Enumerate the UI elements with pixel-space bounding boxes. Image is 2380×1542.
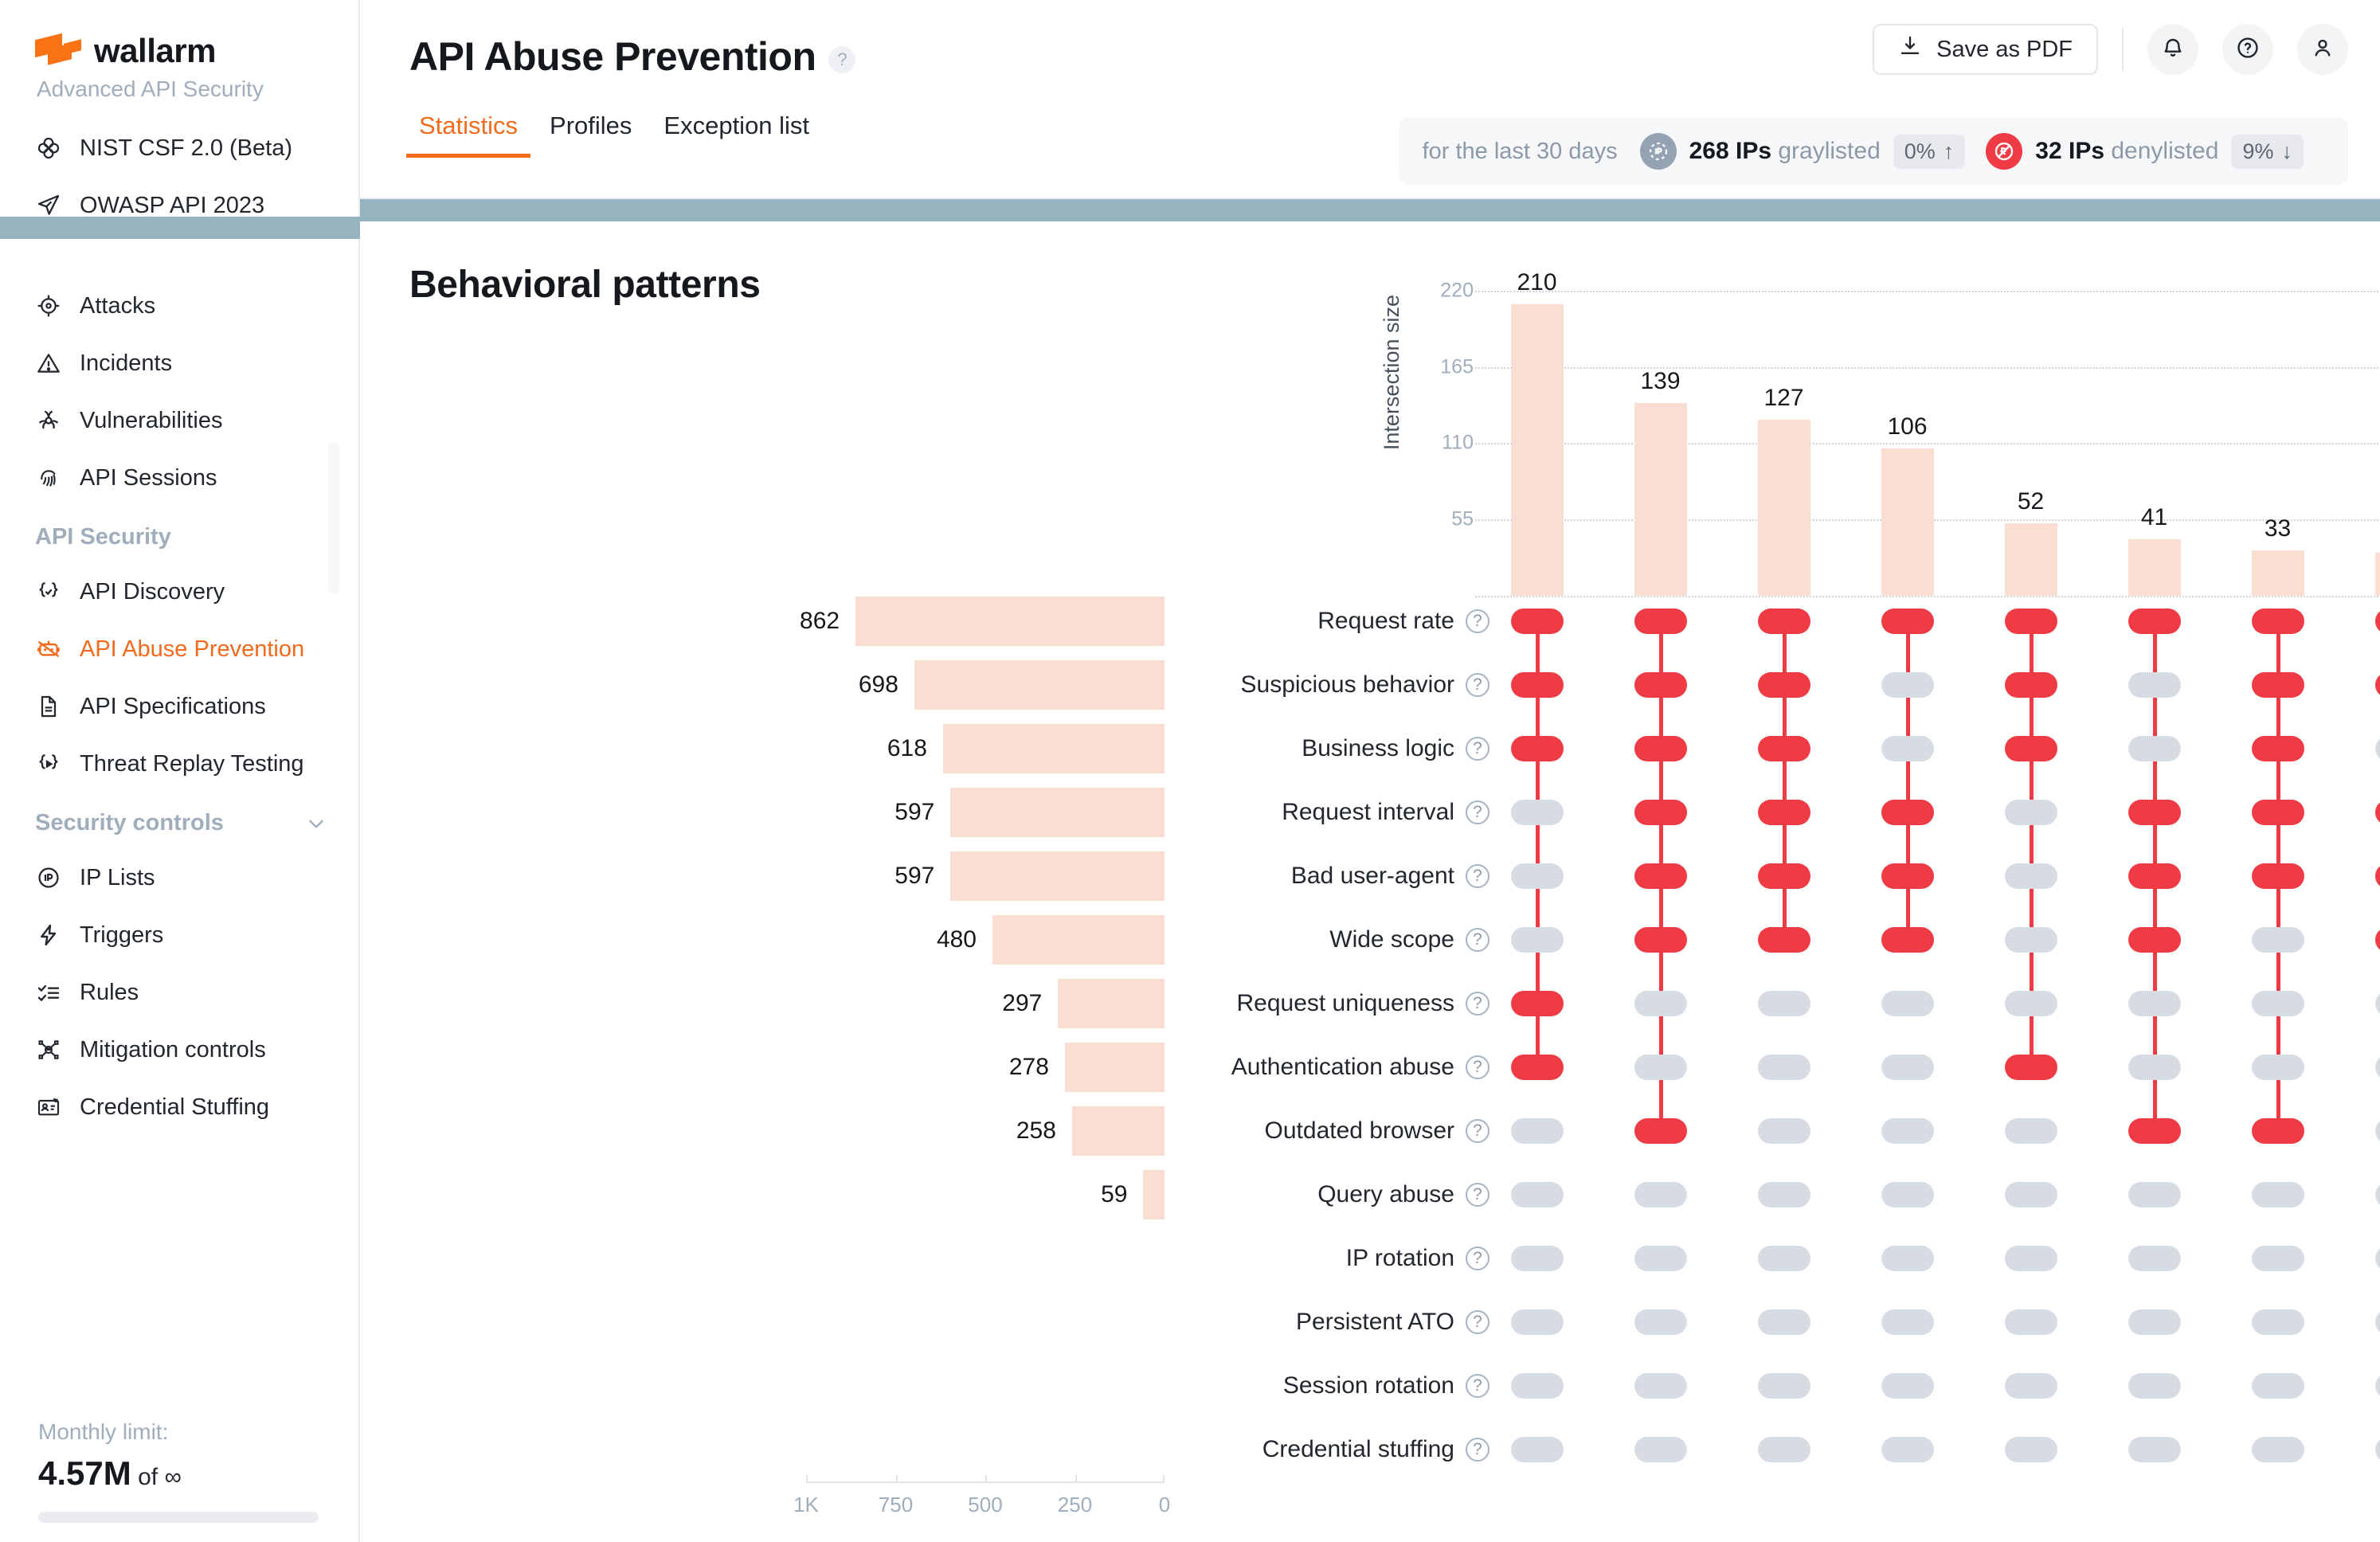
warning-triangle-icon <box>35 350 62 377</box>
sidebar-item-threat-replay-testing[interactable]: Threat Replay Testing <box>0 735 358 793</box>
matrix-dot-active[interactable] <box>2375 672 2380 698</box>
monthly-limit-used: 4.57M <box>38 1454 131 1492</box>
set-size-row[interactable]: 480 <box>937 915 1165 965</box>
denied-badge-icon <box>1986 133 2022 170</box>
sidebar-item-label: Attacks <box>80 293 155 319</box>
set-size-bar[interactable] <box>1058 979 1165 1028</box>
set-size-value: 862 <box>800 608 840 635</box>
matrix-dot-inactive[interactable] <box>2128 1246 2181 1271</box>
category-label: Suspicious behavior <box>1241 671 1455 699</box>
category-label: Bad user-agent <box>1291 863 1454 890</box>
denylisted-text: 32 IPs denylisted <box>2035 138 2218 165</box>
matrix-dot-inactive[interactable] <box>2252 1373 2304 1399</box>
sidebar-item-label: API Specifications <box>80 694 266 720</box>
matrix-dot-inactive[interactable] <box>1511 927 1564 953</box>
matrix-column[interactable] <box>1758 589 1810 1481</box>
set-size-value: 258 <box>1016 1117 1056 1145</box>
y-axis-tick: 220 <box>1440 279 1474 302</box>
sidebar-item-label: Vulnerabilities <box>80 408 222 434</box>
matrix-dot-active[interactable] <box>2005 736 2057 761</box>
sidebar-item-label: Rules <box>80 980 139 1006</box>
intersection-bar[interactable] <box>1881 448 1934 596</box>
matrix-dot-active[interactable] <box>1758 736 1810 761</box>
matrix-dot-active[interactable] <box>2375 863 2380 889</box>
matrix-connector-line <box>1783 621 1787 940</box>
category-labels: Request rate?Suspicious behavior?Busines… <box>1172 589 1491 1481</box>
sidebar-item-label: API Abuse Prevention <box>80 636 304 663</box>
category-label: Request uniqueness <box>1236 990 1454 1017</box>
set-size-row[interactable]: 618 <box>887 724 1165 773</box>
matrix-dot-active[interactable] <box>1881 800 1934 825</box>
axis-tick-label: 1K <box>793 1493 819 1517</box>
category-label-row[interactable]: IP rotation? <box>1172 1227 1491 1290</box>
intersection-bar-value: 210 <box>1517 269 1556 296</box>
help-button[interactable] <box>2222 24 2273 75</box>
set-size-value: 597 <box>894 863 934 890</box>
ip-stats-bar: for the last 30 days 268 IPs graylisted … <box>1399 118 2348 185</box>
set-size-value: 698 <box>859 671 898 699</box>
matrix-dot-active[interactable] <box>2252 736 2304 761</box>
denylisted-stat[interactable]: 32 IPs denylisted 9% ↓ <box>1986 133 2304 170</box>
intersection-size-axis-label: Intersection size <box>1380 139 1404 295</box>
matrix-dot-active[interactable] <box>1634 863 1687 889</box>
set-size-value: 597 <box>894 799 934 826</box>
matrix-dot-active[interactable] <box>2128 927 2181 953</box>
category-label: Query abuse <box>1317 1181 1454 1208</box>
category-label-row[interactable]: Session rotation? <box>1172 1354 1491 1418</box>
matrix-dot-inactive[interactable] <box>2375 1437 2380 1462</box>
main-content: API Abuse Prevention ? Statistics Profil… <box>360 0 2380 1542</box>
intersection-bar[interactable] <box>2128 539 2181 596</box>
set-size-row[interactable]: 59 <box>1101 1170 1165 1219</box>
monthly-limit-progress <box>38 1512 319 1523</box>
matrix-dot-inactive[interactable] <box>2375 736 2380 761</box>
axis-tick <box>1163 1475 1165 1483</box>
category-label: Persistent ATO <box>1296 1309 1454 1336</box>
sidebar-item-ip-lists[interactable]: IP Lists <box>0 849 358 906</box>
matrix-dot-active[interactable] <box>1634 672 1687 698</box>
notifications-button[interactable] <box>2147 24 2198 75</box>
category-label-row[interactable]: Request uniqueness? <box>1172 972 1491 1035</box>
matrix-dot-inactive[interactable] <box>2005 1309 2057 1335</box>
set-size-bar[interactable] <box>914 660 1165 710</box>
sidebar-item-label: Triggers <box>80 922 163 949</box>
tab-profiles[interactable]: Profiles <box>534 112 648 158</box>
set-size-bar[interactable] <box>1065 1043 1165 1092</box>
sidebar-group-api-security: API Security <box>0 507 358 563</box>
matrix-dot-inactive[interactable] <box>2375 991 2380 1016</box>
matrix-dot-inactive[interactable] <box>1511 1309 1564 1335</box>
sidebar-main-nav: Attacks Incidents <box>0 277 358 1136</box>
matrix-dot-inactive[interactable] <box>2375 1182 2380 1207</box>
matrix-dot-inactive[interactable] <box>2252 1182 2304 1207</box>
intersection-size-chart: 55110165220 210139127106524133312824 <box>1475 263 2380 596</box>
sidebar-item-rules[interactable]: Rules <box>0 964 358 1021</box>
intersection-bar-value: 139 <box>1640 368 1680 395</box>
category-label: Authentication abuse <box>1231 1054 1454 1081</box>
matrix-dot-inactive[interactable] <box>1758 1118 1810 1144</box>
matrix-dot-active[interactable] <box>1634 736 1687 761</box>
set-size-axis: 1K7505002500 <box>806 1481 1165 1483</box>
matrix-dot-inactive[interactable] <box>1758 991 1810 1016</box>
monthly-limit-panel: Monthly limit: 4.57M of ∞ <box>0 1419 360 1542</box>
set-size-row[interactable]: 862 <box>800 597 1165 646</box>
matrix-dot-inactive[interactable] <box>2252 927 2304 953</box>
section-accent-bar <box>360 199 2380 221</box>
ip-circle-icon <box>35 864 62 891</box>
denylisted-delta-value: 9% <box>2242 139 2273 164</box>
sidebar-group-security-controls[interactable]: Security controls <box>0 793 358 849</box>
sidebar-group-label: Security controls <box>35 810 224 836</box>
matrix-dot-active[interactable] <box>1881 609 1934 634</box>
brand-subtitle: Advanced API Security <box>37 76 358 102</box>
header-actions: Save as PDF <box>1873 24 2348 75</box>
category-label-row[interactable]: Request interval? <box>1172 781 1491 844</box>
matrix-dot-inactive[interactable] <box>2375 1055 2380 1080</box>
set-size-bar[interactable] <box>950 851 1165 901</box>
monthly-limit-of: of <box>138 1464 158 1490</box>
matrix-column[interactable] <box>2128 589 2181 1481</box>
matrix-dot-inactive[interactable] <box>2005 800 2057 825</box>
matrix-dot-inactive[interactable] <box>1758 1309 1810 1335</box>
save-as-pdf-button[interactable]: Save as PDF <box>1873 24 2098 75</box>
matrix-dot-active[interactable] <box>2252 609 2304 634</box>
y-axis-tick: 55 <box>1451 508 1474 531</box>
matrix-dot-inactive[interactable] <box>2128 1055 2181 1080</box>
matrix-dot-active[interactable] <box>1758 609 1810 634</box>
monthly-limit-value: 4.57M of ∞ <box>38 1454 360 1493</box>
sidebar-item-nist-csf[interactable]: NIST CSF 2.0 (Beta) <box>0 119 358 177</box>
matrix-dot-inactive[interactable] <box>2128 1309 2181 1335</box>
matrix-dot-active[interactable] <box>1511 736 1564 761</box>
braces-play-icon <box>35 750 62 777</box>
set-size-bar[interactable] <box>1072 1106 1165 1156</box>
matrix-dot-inactive[interactable] <box>2252 1437 2304 1462</box>
matrix-column[interactable] <box>2252 589 2304 1481</box>
sidebar-item-credential-stuffing[interactable]: Credential Stuffing <box>0 1078 358 1136</box>
category-label-row[interactable]: Outdated browser? <box>1172 1099 1491 1163</box>
matrix-dot-inactive[interactable] <box>1758 1182 1810 1207</box>
intersection-bar-value: 33 <box>2265 515 2291 542</box>
set-size-value: 278 <box>1009 1054 1049 1081</box>
page-header: API Abuse Prevention ? Statistics Profil… <box>360 0 2380 199</box>
matrix-dot-inactive[interactable] <box>1881 1373 1934 1399</box>
set-size-row[interactable]: 258 <box>1016 1106 1165 1156</box>
matrix-dot-inactive[interactable] <box>1634 991 1687 1016</box>
axis-tick <box>896 1475 898 1483</box>
matrix-dot-inactive[interactable] <box>2252 1246 2304 1271</box>
question-circle-icon <box>2235 35 2261 65</box>
matrix-dot-active[interactable] <box>1634 927 1687 953</box>
nist-compass-icon <box>35 135 62 162</box>
matrix-column[interactable] <box>2005 589 2057 1481</box>
matrix-column[interactable] <box>1511 589 1564 1481</box>
matrix-dot-active[interactable] <box>1511 991 1564 1016</box>
set-size-row[interactable]: 698 <box>859 660 1165 710</box>
denylisted-delta: 9% ↓ <box>2231 135 2304 169</box>
axis-tick <box>985 1475 987 1483</box>
matrix-dot-inactive[interactable] <box>2005 991 2057 1016</box>
tab-exception-list[interactable]: Exception list <box>648 112 825 158</box>
matrix-dot-inactive[interactable] <box>1511 1182 1564 1207</box>
sidebar-item-label: Credential Stuffing <box>80 1094 269 1121</box>
graylisted-label: graylisted <box>1778 138 1880 164</box>
category-label-row[interactable]: Wide scope? <box>1172 908 1491 972</box>
graylisted-count: 268 IPs <box>1689 138 1771 164</box>
matrix-dot-inactive[interactable] <box>1634 1373 1687 1399</box>
matrix-dot-inactive[interactable] <box>2005 927 2057 953</box>
matrix-dot-inactive[interactable] <box>1881 1309 1934 1335</box>
matrix-dot-inactive[interactable] <box>1758 1437 1810 1462</box>
matrix-dot-inactive[interactable] <box>1881 1437 1934 1462</box>
matrix-dot-inactive[interactable] <box>1511 863 1564 889</box>
set-size-bar[interactable] <box>943 724 1165 773</box>
matrix-dot-active[interactable] <box>2375 800 2380 825</box>
matrix-dot-active[interactable] <box>2375 609 2380 634</box>
matrix-dot-active[interactable] <box>1511 609 1564 634</box>
arrow-down-icon: ↓ <box>2282 139 2293 164</box>
graylisted-delta-value: 0% <box>1904 139 1936 164</box>
matrix-dot-inactive[interactable] <box>1758 1373 1810 1399</box>
matrix-dot-active[interactable] <box>1634 800 1687 825</box>
matrix-dot-active[interactable] <box>2128 609 2181 634</box>
sidebar-item-incidents[interactable]: Incidents <box>0 335 358 392</box>
matrix-dot-inactive[interactable] <box>2252 1055 2304 1080</box>
sidebar-item-label: API Sessions <box>80 465 217 491</box>
sidebar-item-attacks[interactable]: Attacks <box>0 277 358 335</box>
intersection-bar-column[interactable]: 52 <box>1969 263 2092 596</box>
matrix-dot-active[interactable] <box>1634 1118 1687 1144</box>
checklist-icon <box>35 979 62 1006</box>
intersection-matrix <box>1475 589 2380 1481</box>
graylisted-text: 268 IPs graylisted <box>1689 138 1881 165</box>
matrix-dot-active[interactable] <box>2128 863 2181 889</box>
sidebar-item-label: IP Lists <box>80 865 155 891</box>
sidebar-group-label: API Security <box>35 524 171 550</box>
matrix-dot-inactive[interactable] <box>1881 991 1934 1016</box>
category-label-row[interactable]: Authentication abuse? <box>1172 1035 1491 1099</box>
tab-statistics[interactable]: Statistics <box>403 112 534 158</box>
set-size-row[interactable]: 278 <box>1009 1043 1165 1092</box>
intersection-bar-column[interactable]: 31 <box>2339 263 2380 596</box>
matrix-dot-inactive[interactable] <box>2375 1118 2380 1144</box>
matrix-dot-active[interactable] <box>1881 863 1934 889</box>
matrix-dot-inactive[interactable] <box>2005 1373 2057 1399</box>
matrix-column[interactable] <box>2375 589 2380 1481</box>
sidebar-item-triggers[interactable]: Triggers <box>0 906 358 964</box>
intersection-bar-column[interactable]: 41 <box>2092 263 2216 596</box>
matrix-dot-inactive[interactable] <box>2128 672 2181 698</box>
matrix-dot-inactive[interactable] <box>1511 1246 1564 1271</box>
matrix-dot-inactive[interactable] <box>1511 1118 1564 1144</box>
matrix-dot-active[interactable] <box>1634 609 1687 634</box>
matrix-dot-active[interactable] <box>2252 1118 2304 1144</box>
category-label-row[interactable]: Request rate? <box>1172 589 1491 653</box>
intersection-bar-value: 41 <box>2141 504 2167 531</box>
matrix-column[interactable] <box>1634 589 1687 1481</box>
biohazard-icon <box>35 407 62 434</box>
matrix-dot-inactive[interactable] <box>2128 1182 2181 1207</box>
matrix-dot-active[interactable] <box>1881 927 1934 953</box>
matrix-dot-inactive[interactable] <box>1511 800 1564 825</box>
sidebar-item-api-sessions[interactable]: API Sessions <box>0 449 358 507</box>
robot-off-icon <box>35 636 62 663</box>
axis-tick <box>806 1475 808 1483</box>
matrix-dot-inactive[interactable] <box>2005 1437 2057 1462</box>
matrix-dot-inactive[interactable] <box>1511 1373 1564 1399</box>
matrix-dot-inactive[interactable] <box>2128 1373 2181 1399</box>
matrix-dot-active[interactable] <box>2128 1118 2181 1144</box>
set-size-row[interactable]: 297 <box>1002 979 1165 1028</box>
category-label-row[interactable]: Suspicious behavior? <box>1172 653 1491 717</box>
sidebar-item-label: OWASP API 2023 <box>80 193 264 219</box>
set-size-value: 59 <box>1101 1181 1127 1208</box>
set-size-bar[interactable] <box>950 788 1165 837</box>
axis-tick-label: 500 <box>968 1493 1002 1517</box>
matrix-dot-inactive[interactable] <box>2128 991 2181 1016</box>
matrix-dot-inactive[interactable] <box>2375 1373 2380 1399</box>
matrix-dot-active[interactable] <box>2005 1055 2057 1080</box>
matrix-column[interactable] <box>1881 589 1934 1481</box>
matrix-dot-inactive[interactable] <box>2252 991 2304 1016</box>
set-size-bar[interactable] <box>1143 1170 1165 1219</box>
category-label: Request rate <box>1317 608 1454 635</box>
monthly-limit-label: Monthly limit: <box>38 1419 360 1445</box>
matrix-dot-inactive[interactable] <box>1881 1055 1934 1080</box>
matrix-dot-inactive[interactable] <box>2005 863 2057 889</box>
chevron-down-icon[interactable] <box>306 813 327 834</box>
y-axis-tick: 110 <box>1442 432 1474 455</box>
sidebar-item-label: Threat Replay Testing <box>80 751 304 777</box>
matrix-dot-inactive[interactable] <box>2252 1309 2304 1335</box>
axis-tick-label: 250 <box>1058 1493 1092 1517</box>
question-circle-icon[interactable]: ? <box>828 46 855 73</box>
matrix-dot-active[interactable] <box>1758 863 1810 889</box>
matrix-dot-inactive[interactable] <box>1881 736 1934 761</box>
matrix-dot-inactive[interactable] <box>1634 1437 1687 1462</box>
intersection-bar[interactable] <box>1634 403 1687 596</box>
user-account-button[interactable] <box>2297 24 2348 75</box>
denylisted-label: denylisted <box>2111 138 2218 164</box>
set-size-bar[interactable] <box>855 597 1165 646</box>
matrix-dot-inactive[interactable] <box>1881 1246 1934 1271</box>
set-size-bar[interactable] <box>992 915 1165 965</box>
set-size-value: 618 <box>887 735 927 762</box>
matrix-dot-active[interactable] <box>2005 609 2057 634</box>
sidebar: wallarm Advanced API Security NIST CSF 2… <box>0 0 360 1542</box>
bell-icon <box>2160 35 2186 65</box>
matrix-dot-inactive[interactable] <box>1634 1182 1687 1207</box>
sidebar-item-label: API Discovery <box>80 579 225 605</box>
matrix-dot-inactive[interactable] <box>1758 1246 1810 1271</box>
matrix-dot-inactive[interactable] <box>2005 1118 2057 1144</box>
matrix-dot-inactive[interactable] <box>2005 1246 2057 1271</box>
app-root: wallarm Advanced API Security NIST CSF 2… <box>0 0 2380 1542</box>
sidebar-item-vulnerabilities[interactable]: Vulnerabilities <box>0 392 358 449</box>
intersection-bar-column[interactable]: 33 <box>2216 263 2339 596</box>
sidebar-item-api-abuse-prevention[interactable]: API Abuse Prevention <box>0 620 358 678</box>
category-label-row[interactable]: Bad user-agent? <box>1172 844 1491 908</box>
category-label: Session rotation <box>1283 1372 1454 1399</box>
intersection-bar[interactable] <box>1511 304 1564 596</box>
matrix-dot-active[interactable] <box>1758 927 1810 953</box>
fingerprint-icon <box>35 464 62 491</box>
intersection-bar-value: 52 <box>2018 488 2044 515</box>
intersection-bar-column[interactable]: 210 <box>1475 263 1599 596</box>
set-size-row[interactable]: 597 <box>894 788 1165 837</box>
crosshair-icon <box>35 292 62 319</box>
matrix-dot-active[interactable] <box>1511 672 1564 698</box>
matrix-dot-inactive[interactable] <box>1758 1055 1810 1080</box>
set-size-value: 297 <box>1002 990 1042 1017</box>
category-label-row[interactable]: Persistent ATO? <box>1172 1290 1491 1354</box>
sidebar-item-label: Incidents <box>80 350 172 377</box>
sidebar-scrollbar[interactable] <box>328 443 339 594</box>
denylisted-count: 32 IPs <box>2035 138 2104 164</box>
document-lines-icon <box>35 693 62 720</box>
graylisted-stat[interactable]: 268 IPs graylisted 0% ↑ <box>1640 133 1966 170</box>
stats-period-label: for the last 30 days <box>1423 139 1618 165</box>
matrix-dot-active[interactable] <box>2252 863 2304 889</box>
matrix-dot-inactive[interactable] <box>1881 1118 1934 1144</box>
matrix-dot-active[interactable] <box>2005 672 2057 698</box>
category-label: IP rotation <box>1346 1245 1454 1272</box>
matrix-dot-active[interactable] <box>2252 672 2304 698</box>
sidebar-item-mitigation-controls[interactable]: Mitigation controls <box>0 1021 358 1078</box>
matrix-dot-inactive[interactable] <box>1881 672 1934 698</box>
matrix-dot-inactive[interactable] <box>1511 1437 1564 1462</box>
matrix-dot-inactive[interactable] <box>1881 1182 1934 1207</box>
y-axis-tick: 165 <box>1440 355 1474 378</box>
category-label-row[interactable]: Business logic? <box>1172 717 1491 781</box>
matrix-dot-inactive[interactable] <box>2375 1246 2380 1271</box>
category-label: Outdated browser <box>1265 1117 1454 1145</box>
sidebar-item-api-specifications[interactable]: API Specifications <box>0 678 358 735</box>
matrix-dot-active[interactable] <box>1758 672 1810 698</box>
set-size-row[interactable]: 597 <box>894 851 1165 901</box>
matrix-dot-active[interactable] <box>2252 800 2304 825</box>
matrix-dot-active[interactable] <box>2375 927 2380 953</box>
intersection-bar[interactable] <box>1758 420 1810 596</box>
matrix-dot-inactive[interactable] <box>2005 1182 2057 1207</box>
category-label: Credential stuffing <box>1262 1436 1454 1463</box>
id-card-refresh-icon <box>35 1094 62 1121</box>
matrix-dot-active[interactable] <box>2128 800 2181 825</box>
category-label-row[interactable]: Query abuse? <box>1172 1163 1491 1227</box>
matrix-dot-inactive[interactable] <box>2128 1437 2181 1462</box>
intersection-bar-column[interactable]: 106 <box>1846 263 1969 596</box>
category-label: Request interval <box>1282 799 1454 826</box>
skull-nodes-icon <box>35 1036 62 1063</box>
matrix-dot-inactive[interactable] <box>1634 1246 1687 1271</box>
download-icon <box>1898 34 1922 65</box>
matrix-dot-inactive[interactable] <box>2128 736 2181 761</box>
brand[interactable]: wallarm Advanced API Security <box>0 0 358 102</box>
category-label-row[interactable]: Credential stuffing? <box>1172 1418 1491 1481</box>
matrix-dot-inactive[interactable] <box>2375 1309 2380 1335</box>
matrix-dot-active[interactable] <box>1758 800 1810 825</box>
matrix-dot-active[interactable] <box>1511 1055 1564 1080</box>
intersection-bar[interactable] <box>2005 523 2057 596</box>
page-title: API Abuse Prevention <box>409 33 816 80</box>
category-label: Business logic <box>1302 735 1454 762</box>
sidebar-item-label: Mitigation controls <box>80 1037 266 1063</box>
intersection-bar-column[interactable]: 127 <box>1722 263 1846 596</box>
matrix-dot-inactive[interactable] <box>1634 1309 1687 1335</box>
intersection-bar-column[interactable]: 139 <box>1599 263 1722 596</box>
sidebar-item-api-discovery[interactable]: API Discovery <box>0 563 358 620</box>
matrix-dot-inactive[interactable] <box>1634 1055 1687 1080</box>
